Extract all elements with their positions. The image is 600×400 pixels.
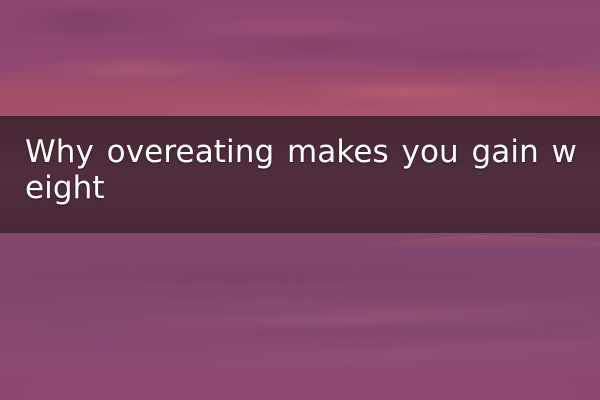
title-banner: Why overeating makes you gain weight — [0, 116, 600, 233]
screenshot-root: Why overeating makes you gain weight — [0, 0, 600, 400]
banner-title: Why overeating makes you gain weight — [25, 134, 577, 206]
